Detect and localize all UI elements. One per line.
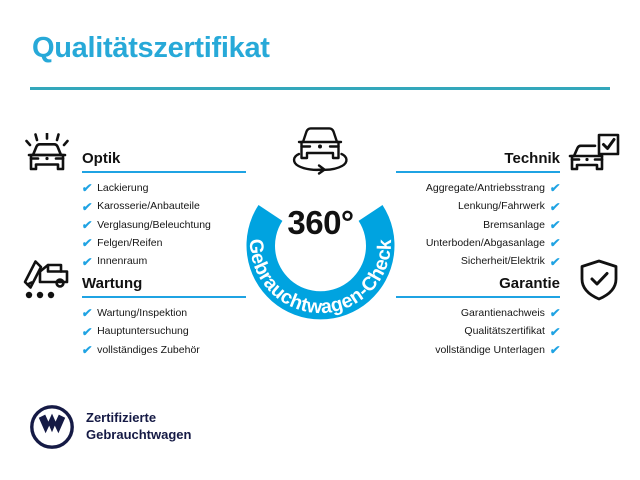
check-icon: ✔	[81, 201, 93, 213]
footer-line-1: Zertifizierte	[86, 410, 191, 427]
check-icon: ✔	[549, 182, 561, 194]
check-icon: ✔	[81, 344, 93, 356]
list-item-label: Garantienachweis	[461, 308, 545, 319]
check-icon: ✔	[81, 307, 93, 319]
check-icon: ✔	[81, 219, 93, 231]
section-optik-divider	[82, 171, 246, 173]
list-item-label: vollständiges Zubehör	[97, 345, 200, 356]
footer-line-2: Gebrauchtwagen	[86, 427, 191, 444]
list-item-label: Felgen/Reifen	[97, 238, 162, 249]
list-item: Aggregate/Antriebsstrang✔	[396, 179, 560, 197]
section-technik-list: Aggregate/Antriebsstrang✔ Lenkung/Fahrwe…	[396, 179, 560, 271]
footer-branding: Zertifizierte Gebrauchtwagen	[30, 405, 191, 449]
list-item-label: Unterboden/Abgasanlage	[426, 238, 545, 249]
footer-text: Zertifizierte Gebrauchtwagen	[86, 410, 191, 443]
section-optik-header: Optik	[82, 143, 246, 169]
list-item: Lenkung/Fahrwerk✔	[396, 197, 560, 215]
check-icon: ✔	[549, 201, 561, 213]
section-technik-divider	[396, 171, 560, 173]
section-wartung-header: Wartung	[82, 268, 246, 294]
list-item-label: Sicherheit/Elektrik	[461, 256, 545, 267]
section-technik-header: Technik	[396, 143, 560, 169]
badge-degrees-label: 360°	[228, 204, 413, 242]
list-item-label: Hauptuntersuchung	[97, 326, 189, 337]
list-item-label: Bremsanlage	[483, 220, 545, 231]
list-item: Qualitätszertifikat✔	[396, 322, 560, 340]
section-optik-list: ✔Lackierung ✔Karosserie/Anbauteile ✔Verg…	[82, 179, 246, 271]
check-icon: ✔	[549, 256, 561, 268]
section-technik: Technik Aggregate/Antriebsstrang✔ Lenkun…	[396, 143, 560, 271]
section-garantie-header: Garantie	[396, 268, 560, 294]
section-wartung-title: Wartung	[82, 275, 142, 292]
list-item: ✔Lackierung	[82, 179, 246, 197]
section-garantie-divider	[396, 296, 560, 298]
list-item: Garantienachweis✔	[396, 304, 560, 322]
section-wartung-list: ✔Wartung/Inspektion ✔Hauptuntersuchung ✔…	[82, 304, 246, 359]
list-item: Bremsanlage✔	[396, 216, 560, 234]
car-rotate-360-icon	[286, 118, 354, 180]
check-icon: ✔	[81, 256, 93, 268]
list-item: ✔Wartung/Inspektion	[82, 304, 246, 322]
section-optik-title: Optik	[82, 150, 120, 167]
volkswagen-logo-icon	[30, 405, 74, 449]
section-garantie: Garantie Garantienachweis✔ Qualitätszert…	[396, 268, 560, 359]
check-icon: ✔	[549, 219, 561, 231]
certificate-page: Qualitätszertifikat	[0, 0, 640, 480]
list-item: vollständige Unterlagen✔	[396, 341, 560, 359]
list-item: ✔Verglasung/Beleuchtung	[82, 216, 246, 234]
check-icon: ✔	[549, 326, 561, 338]
section-technik-title: Technik	[504, 150, 560, 167]
check-icon: ✔	[81, 326, 93, 338]
list-item: ✔Karosserie/Anbauteile	[82, 197, 246, 215]
check-icon: ✔	[549, 307, 561, 319]
list-item: Unterboden/Abgasanlage✔	[396, 234, 560, 252]
list-item-label: Wartung/Inspektion	[97, 308, 187, 319]
list-item-label: Aggregate/Antriebsstrang	[426, 183, 545, 194]
check-icon: ✔	[549, 344, 561, 356]
list-item: ✔Felgen/Reifen	[82, 234, 246, 252]
list-item-label: Karosserie/Anbauteile	[97, 201, 200, 212]
list-item-label: Innenraum	[97, 256, 147, 267]
section-garantie-title: Garantie	[499, 275, 560, 292]
check-icon: ✔	[81, 182, 93, 194]
check-icon: ✔	[81, 237, 93, 249]
pen-car-service-icon	[20, 258, 74, 302]
list-item-label: Qualitätszertifikat	[464, 326, 545, 337]
list-item-label: Lenkung/Fahrwerk	[458, 201, 545, 212]
title-divider	[30, 87, 610, 90]
check-icon: ✔	[549, 237, 561, 249]
list-item: ✔vollständiges Zubehör	[82, 341, 246, 359]
list-item-label: Verglasung/Beleuchtung	[97, 220, 211, 231]
section-wartung: Wartung ✔Wartung/Inspektion ✔Hauptunters…	[82, 268, 246, 359]
shield-check-icon	[572, 258, 626, 302]
list-item: ✔Hauptuntersuchung	[82, 322, 246, 340]
page-title: Qualitätszertifikat	[32, 32, 270, 65]
section-wartung-divider	[82, 296, 246, 298]
car-checkbox-icon	[566, 133, 620, 177]
section-optik: Optik ✔Lackierung ✔Karosserie/Anbauteile…	[82, 143, 246, 271]
section-garantie-list: Garantienachweis✔ Qualitätszertifikat✔ v…	[396, 304, 560, 359]
list-item-label: Lackierung	[97, 183, 148, 194]
car-headlights-icon	[20, 133, 74, 177]
list-item-label: vollständige Unterlagen	[435, 345, 545, 356]
